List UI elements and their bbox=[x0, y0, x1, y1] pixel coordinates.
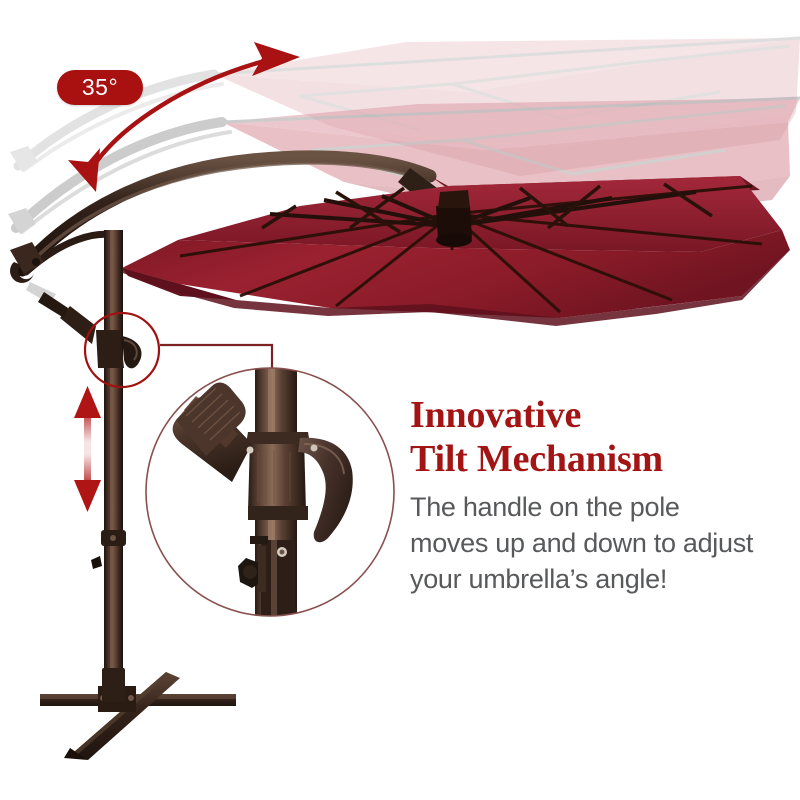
feature-heading-line-1: Innovative bbox=[410, 394, 581, 436]
feature-body: The handle on the pole moves up and down… bbox=[410, 489, 792, 597]
feature-body-line-3: your umbrella’s angle! bbox=[410, 561, 792, 597]
feature-body-line-2: moves up and down to adjust bbox=[410, 525, 792, 561]
feature-heading-line-2: Tilt Mechanism bbox=[410, 437, 792, 481]
feature-body-line-1: The handle on the pole bbox=[410, 489, 792, 525]
feature-copy-block: Innovative Tilt Mechanism The handle on … bbox=[410, 393, 792, 597]
product-infographic: 35° Innovative Tilt Mechanism The handle… bbox=[0, 0, 800, 800]
angle-badge: 35° bbox=[57, 70, 143, 105]
angle-badge-label: 35° bbox=[82, 76, 118, 99]
feature-heading: Innovative Tilt Mechanism bbox=[410, 393, 792, 481]
